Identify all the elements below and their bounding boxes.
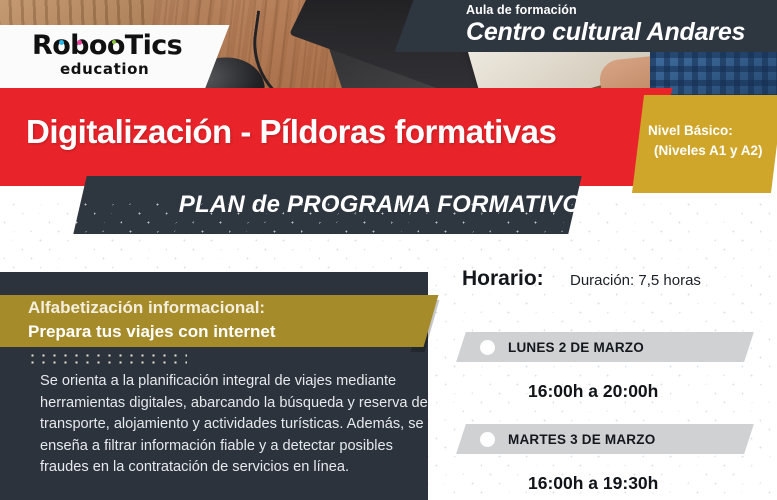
session-bar-2-right-edge xyxy=(724,424,754,454)
bullet-dot-icon xyxy=(480,432,495,447)
session-bar-2: MARTES 3 DE MARZO xyxy=(470,424,740,454)
level-badge-inner: Nivel Básico: (Niveles A1 y A2) xyxy=(638,95,777,193)
session-time-1: 16:00h a 20:00h xyxy=(528,381,658,402)
plan-banner-title: PLAN de PROGRAMA FORMATIVO xyxy=(120,191,640,219)
dot-divider xyxy=(27,352,187,366)
course-title-line2: Prepara tus viajes con internet xyxy=(28,322,276,342)
session-day-1: LUNES 2 DE MARZO xyxy=(508,340,644,355)
session-bar-1-right-edge xyxy=(724,332,754,362)
level-label: Nivel Básico: xyxy=(648,123,777,138)
session-day-2: MARTES 3 DE MARZO xyxy=(508,432,655,447)
course-description: Se orienta a la planificación integral d… xyxy=(40,371,432,479)
session-time-2: 16:00h a 19:30h xyxy=(528,473,658,494)
poster-root: Aula de formación Centro cultural Andare… xyxy=(0,0,777,500)
venue-subtitle: Aula de formación xyxy=(466,3,577,17)
bullet-dot-icon xyxy=(480,340,495,355)
course-title-line1: Alfabetización informacional: xyxy=(28,298,265,318)
logo-tagline: education xyxy=(60,60,149,78)
schedule-duration: Duración: 7,5 horas xyxy=(570,272,701,289)
program-title: Digitalización - Píldoras formativas xyxy=(26,113,556,151)
venue-name: Centro cultural Andares xyxy=(466,18,745,47)
session-bar-1: LUNES 2 DE MARZO xyxy=(470,332,740,362)
logo-wordmark: RobooTics xyxy=(32,30,182,61)
level-sublabel: (Niveles A1 y A2) xyxy=(654,143,777,158)
schedule-label: Horario: xyxy=(462,267,544,291)
level-badge: Nivel Básico: (Niveles A1 y A2) xyxy=(632,95,777,193)
